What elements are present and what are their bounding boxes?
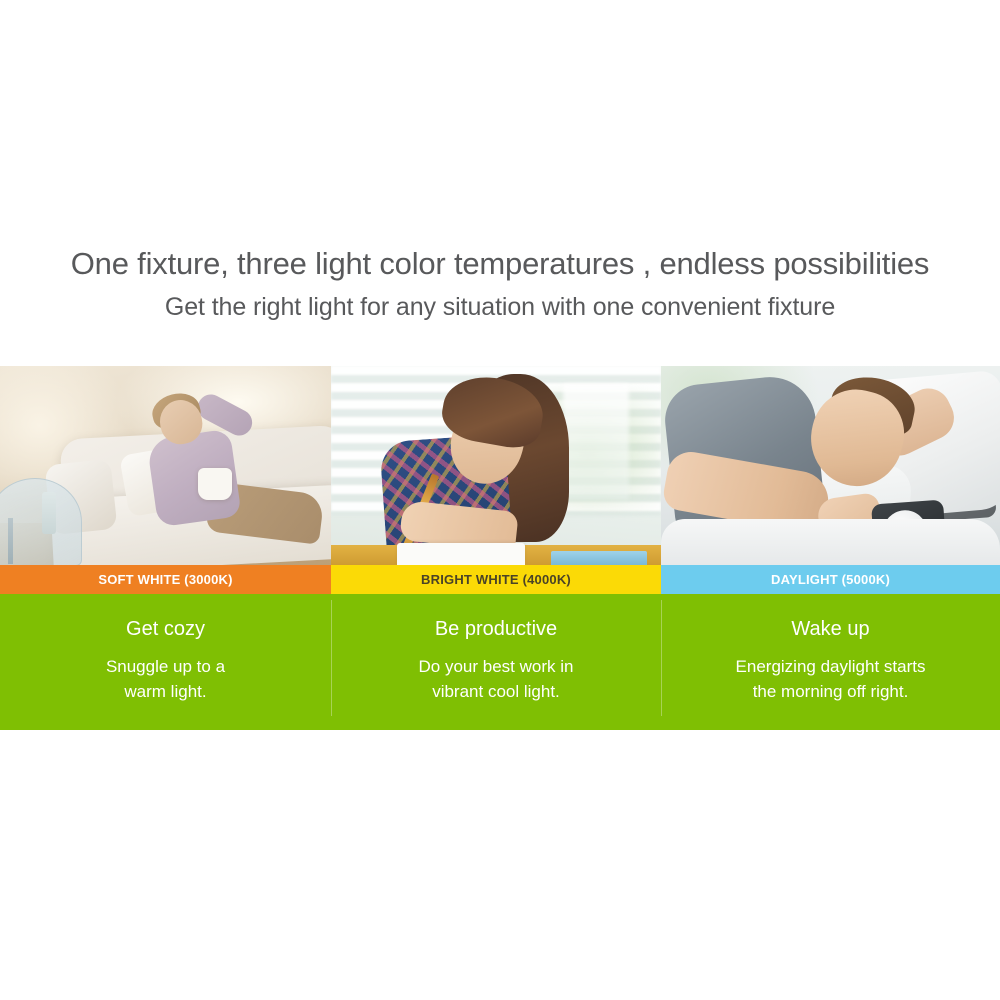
- panel-bright-white: BRIGHT WHITE (4000K) Be productive Do yo…: [331, 366, 661, 730]
- caption-line-2: warm light.: [124, 682, 206, 701]
- caption-line-2: vibrant cool light.: [432, 682, 560, 701]
- caption-divider-left: [331, 600, 332, 716]
- caption-daylight: Wake up Energizing daylight starts the m…: [661, 594, 1000, 730]
- caption-title-bright-white: Be productive: [331, 616, 661, 642]
- heading-block: One fixture, three light color temperatu…: [0, 244, 1000, 324]
- caption-title-daylight: Wake up: [661, 616, 1000, 642]
- page-subtitle: Get the right light for any situation wi…: [0, 290, 1000, 324]
- label-soft-white: SOFT WHITE (3000K): [0, 565, 331, 594]
- duvet-shape: [661, 519, 1000, 565]
- book-shape: [551, 551, 647, 565]
- mug-shape: [198, 468, 232, 500]
- paper-sheet-shape: [397, 543, 525, 565]
- label-bright-white: BRIGHT WHITE (4000K): [331, 565, 661, 594]
- caption-line-2: the morning off right.: [753, 682, 909, 701]
- comparison-panels: SOFT WHITE (3000K) Get cozy Snuggle up t…: [0, 366, 1000, 730]
- photo-daylight-bedroom: [661, 366, 1000, 565]
- caption-title-soft-white: Get cozy: [0, 616, 331, 642]
- photo-bright-white-study: [331, 366, 661, 565]
- caption-body-daylight: Energizing daylight starts the morning o…: [661, 654, 1000, 704]
- caption-line-1: Snuggle up to a: [106, 657, 225, 676]
- caption-bright-white: Be productive Do your best work in vibra…: [331, 594, 661, 730]
- page-title: One fixture, three light color temperatu…: [0, 244, 1000, 284]
- caption-line-1: Energizing daylight starts: [736, 657, 926, 676]
- photo-soft-white-living-room: [0, 366, 331, 565]
- caption-line-1: Do your best work in: [419, 657, 574, 676]
- caption-body-soft-white: Snuggle up to a warm light.: [0, 654, 331, 704]
- panel-daylight: DAYLIGHT (5000K) Wake up Energizing dayl…: [661, 366, 1000, 730]
- bottle-shape: [42, 492, 56, 534]
- caption-soft-white: Get cozy Snuggle up to a warm light.: [0, 594, 331, 730]
- caption-divider-left: [661, 600, 662, 716]
- panel-soft-white: SOFT WHITE (3000K) Get cozy Snuggle up t…: [0, 366, 331, 730]
- label-daylight: DAYLIGHT (5000K): [661, 565, 1000, 594]
- caption-body-bright-white: Do your best work in vibrant cool light.: [331, 654, 661, 704]
- table-leg-shape: [8, 518, 13, 564]
- window-pane-shape: [563, 384, 629, 500]
